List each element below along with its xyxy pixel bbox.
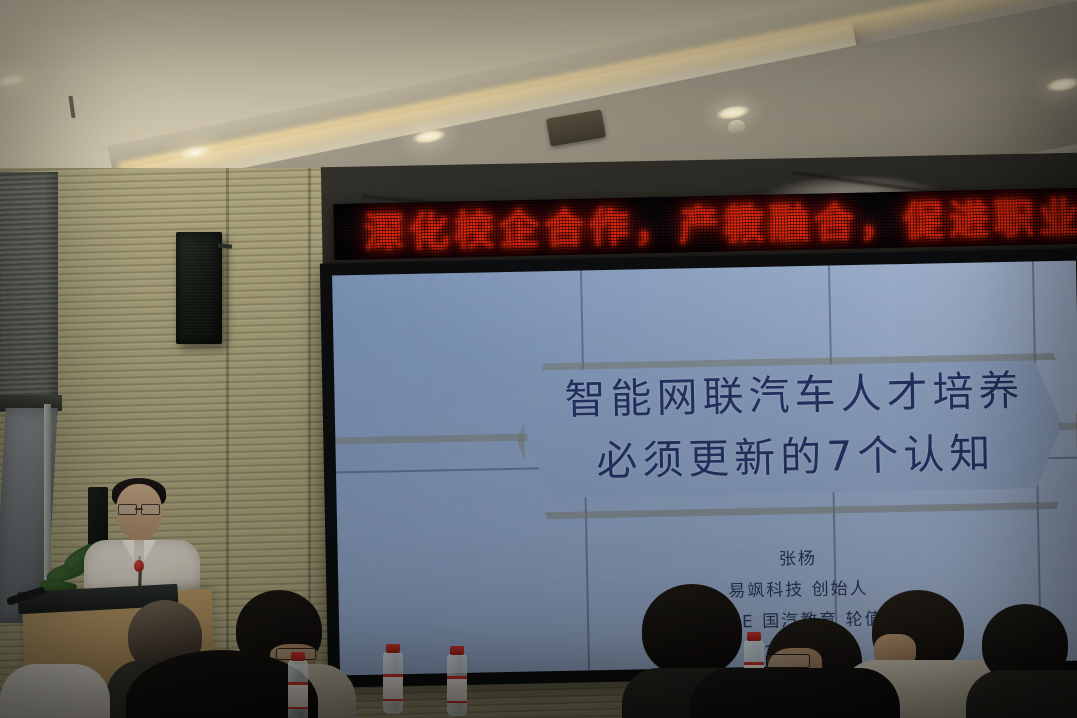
bottle-cap bbox=[386, 644, 400, 653]
slide-frame-line-right bbox=[1059, 421, 1077, 430]
conference-photo: 深化校企合作，产教融合，促进职业教育高 智能网联汽车人才培养 必须更新的7个认知… bbox=[0, 0, 1077, 718]
glasses-icon bbox=[766, 654, 810, 668]
slide-title: 智能网联汽车人才培养 必须更新的7个认知 bbox=[530, 359, 1060, 494]
wall-speaker-icon bbox=[176, 232, 222, 344]
torso bbox=[0, 664, 110, 718]
water-bottle bbox=[288, 660, 308, 718]
audience-person bbox=[690, 668, 890, 718]
water-bottle bbox=[383, 652, 403, 714]
presenter-collar bbox=[122, 540, 134, 562]
bottle-cap bbox=[450, 646, 464, 655]
bottle-cap bbox=[291, 652, 305, 661]
bottle-label bbox=[447, 676, 467, 703]
water-bottle bbox=[447, 654, 467, 716]
torso bbox=[966, 670, 1077, 718]
slide-title-line-1: 智能网联汽车人才培养 bbox=[530, 359, 1059, 432]
slide-title-line-2: 必须更新的7个认知 bbox=[531, 421, 1060, 494]
bottle-label bbox=[383, 674, 403, 701]
audience-area bbox=[0, 560, 1077, 718]
torso bbox=[690, 668, 900, 718]
glasses-icon bbox=[118, 504, 160, 513]
window-blinds bbox=[0, 172, 58, 412]
audience-person bbox=[0, 664, 96, 718]
audience-person bbox=[982, 604, 1077, 718]
presenter-collar bbox=[144, 540, 156, 562]
head bbox=[642, 584, 742, 676]
bottle-label bbox=[288, 682, 308, 709]
